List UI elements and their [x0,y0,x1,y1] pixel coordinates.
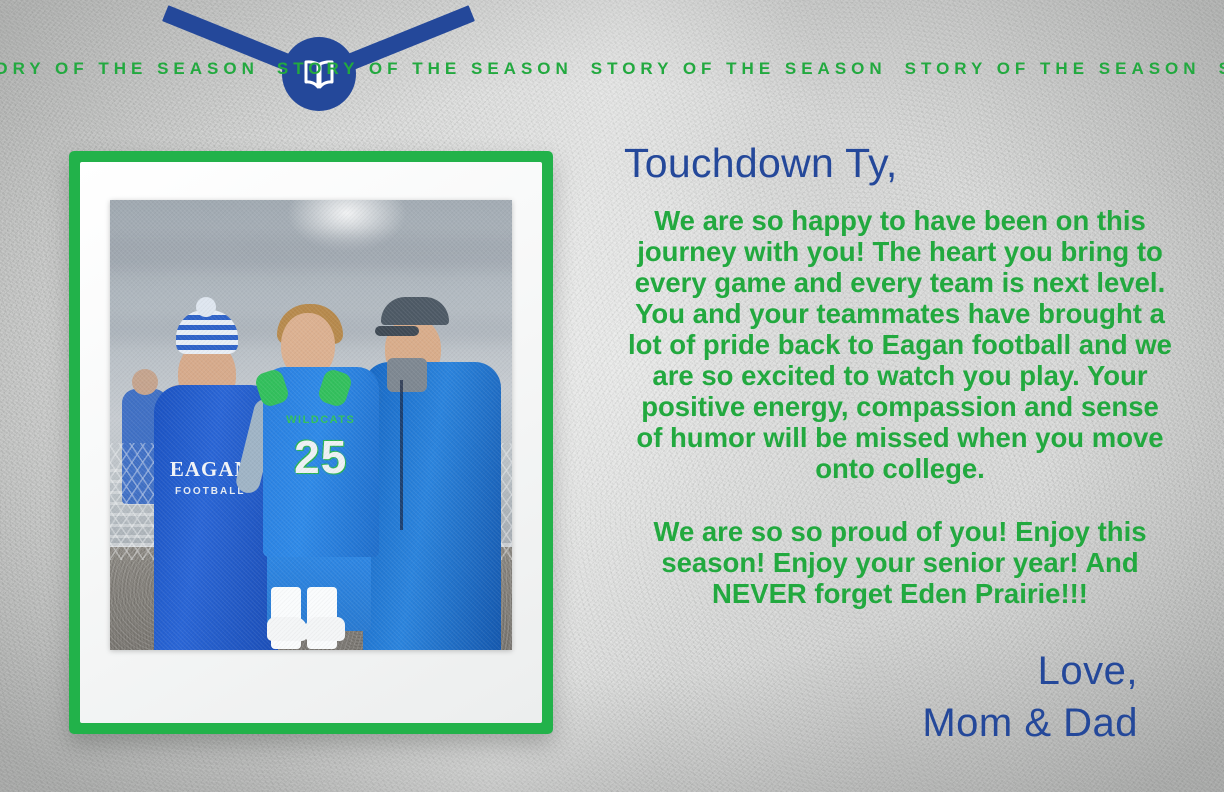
family-photo: EAGAN FOOTBALL [110,200,512,650]
banner-strip: STORY OF THE SEASONSTORY OF THE SEASONST… [0,56,1224,82]
story-of-the-season-card: STORY OF THE SEASONSTORY OF THE SEASONST… [0,0,1224,792]
banner-phrase: STORY OF THE SEASON [905,59,1219,79]
banner-phrase: STORY OF THE SEASON [0,59,277,79]
signoff-line-two: Mom & Dad [600,697,1138,749]
banner-phrase: STORY OF THE SEASON [591,59,905,79]
banner-phrase: STORY OF THE SEASON [1219,59,1224,79]
photo-grain-overlay [110,200,512,650]
banner-phrase: STORY OF THE SEASON [277,59,591,79]
message-column: Touchdown Ty, We are so happy to have be… [600,140,1200,749]
photo-mat: EAGAN FOOTBALL [80,162,542,723]
signoff: Love, Mom & Dad [600,645,1138,749]
message-paragraph-two: We are so so proud of you! Enjoy this se… [628,516,1172,609]
message-paragraph-one: We are so happy to have been on this jou… [628,205,1172,484]
greeting-heading: Touchdown Ty, [624,140,1200,187]
photo-frame: EAGAN FOOTBALL [69,151,553,734]
signoff-line-one: Love, [600,645,1138,697]
banner-text-track: STORY OF THE SEASONSTORY OF THE SEASONST… [0,59,1224,79]
